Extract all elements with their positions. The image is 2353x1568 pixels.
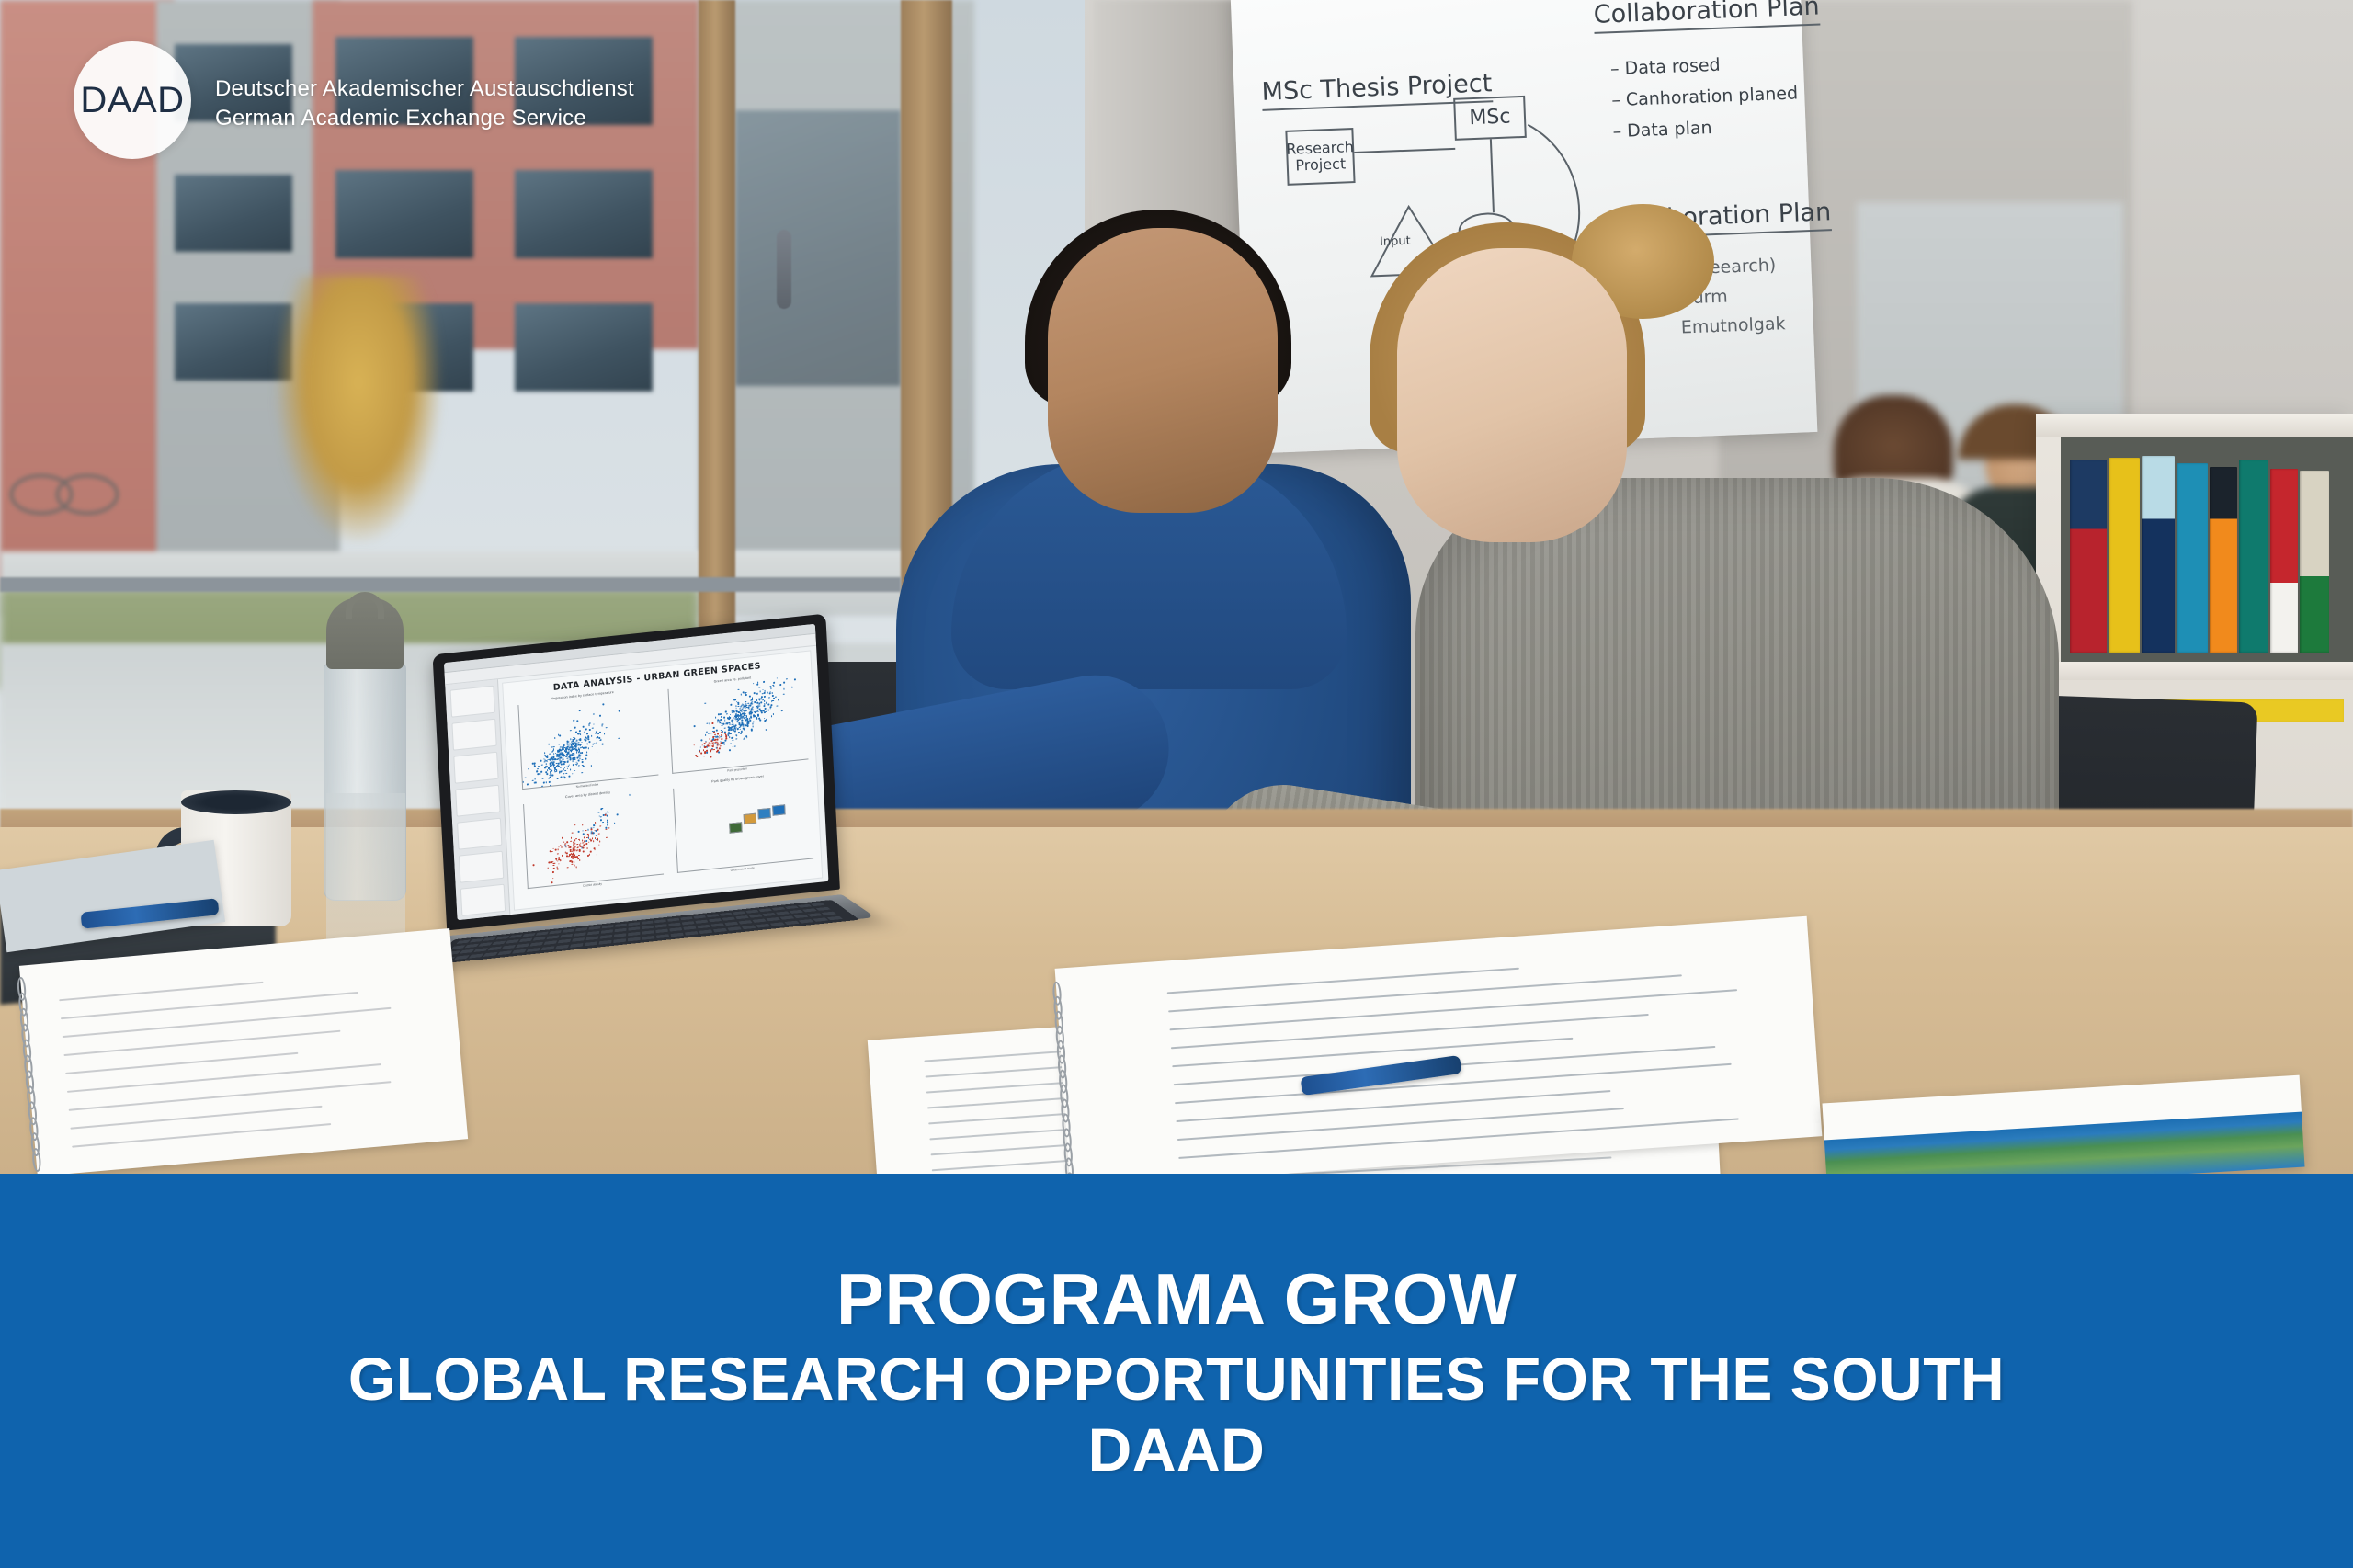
chart-grid: Vegetation index by surface temperature …	[504, 666, 822, 903]
keyboard-key[interactable]	[588, 926, 600, 930]
data-point	[582, 830, 584, 832]
keyboard-key[interactable]	[770, 922, 785, 926]
keyboard-key[interactable]	[615, 928, 627, 932]
keyboard-key[interactable]	[549, 930, 562, 934]
keyboard-key[interactable]	[628, 932, 640, 937]
data-point	[581, 752, 583, 754]
data-point	[566, 754, 568, 756]
data-point	[550, 763, 551, 765]
data-point	[560, 762, 562, 764]
data-point	[599, 732, 601, 733]
daad-logo-mark: DAAD	[74, 41, 191, 159]
whiteboard-panel1-item-3: Data plan	[1627, 118, 1712, 142]
data-point	[769, 693, 771, 695]
data-point	[715, 717, 717, 719]
data-point	[735, 738, 737, 740]
keyboard-key[interactable]	[585, 941, 597, 946]
bookshelf-shelf	[2036, 662, 2353, 680]
data-point	[701, 739, 703, 741]
data-point	[569, 776, 571, 778]
data-point	[572, 760, 574, 762]
keyboard-key[interactable]	[697, 925, 710, 928]
keyboard-key[interactable]	[694, 915, 706, 919]
keyboard-key[interactable]	[779, 915, 794, 919]
data-point	[717, 744, 719, 746]
keyboard-key[interactable]	[572, 937, 585, 942]
data-point	[587, 855, 589, 857]
data-point	[573, 739, 574, 741]
data-point	[752, 726, 754, 728]
keyboard-key[interactable]	[707, 914, 720, 917]
keyboard-key[interactable]	[680, 916, 692, 920]
data-point	[766, 710, 767, 712]
data-point	[586, 755, 588, 756]
keyboard-key[interactable]	[628, 926, 640, 930]
keyboard-key[interactable]	[642, 926, 654, 929]
keyboard-key[interactable]	[670, 933, 683, 937]
data-point	[764, 692, 766, 694]
daad-name-german: Deutscher Akademischer Austauschdienst	[215, 76, 634, 102]
data-point	[570, 850, 572, 852]
keyboard-key[interactable]	[483, 937, 496, 941]
data-point	[557, 869, 559, 870]
screen-sidebar	[445, 679, 510, 920]
data-point	[733, 729, 734, 731]
keyboard-key[interactable]	[473, 948, 488, 952]
data-point	[558, 766, 560, 767]
keyboard-key[interactable]	[756, 924, 770, 928]
keyboard-key[interactable]	[533, 937, 546, 941]
data-point	[582, 824, 584, 825]
data-point	[704, 746, 706, 748]
keyboard-key[interactable]	[727, 926, 741, 931]
data-point	[766, 702, 767, 704]
keyboard-key[interactable]	[738, 920, 752, 924]
keyboard-key[interactable]	[733, 911, 745, 915]
bottle-body	[324, 664, 406, 901]
keyboard-key[interactable]	[766, 917, 780, 921]
data-point	[574, 840, 576, 842]
keyboard-key[interactable]	[752, 919, 766, 923]
data-point	[719, 747, 721, 749]
bicycle	[55, 473, 119, 516]
data-point	[745, 717, 746, 719]
keyboard-key[interactable]	[454, 955, 470, 960]
mug-rim	[181, 790, 291, 814]
data-point	[746, 718, 748, 720]
data-point	[759, 709, 761, 710]
data-point	[748, 708, 750, 710]
data-point	[570, 738, 572, 740]
keyboard-key[interactable]	[772, 907, 786, 911]
keyboard-key[interactable]	[758, 908, 772, 912]
data-point	[552, 756, 554, 757]
data-point	[568, 766, 570, 767]
legend-swatch	[729, 822, 742, 833]
keyboard-key[interactable]	[492, 941, 506, 946]
data-point	[718, 714, 720, 716]
keyboard-key[interactable]	[785, 905, 799, 909]
keyboard-key[interactable]	[798, 904, 812, 908]
data-point	[579, 859, 581, 861]
data-point	[603, 814, 605, 816]
keyboard-key[interactable]	[735, 915, 749, 919]
keyboard-key[interactable]	[478, 942, 492, 947]
data-point	[570, 730, 572, 732]
data-point	[589, 729, 591, 731]
data-point	[593, 832, 595, 834]
keyboard-key[interactable]	[483, 952, 497, 957]
keyboard-key[interactable]	[784, 921, 799, 926]
keyboard-key[interactable]	[776, 911, 790, 915]
data-point	[734, 725, 736, 727]
data-point	[593, 827, 595, 829]
sidebar-card	[451, 719, 496, 751]
notebook-left	[19, 928, 468, 1174]
keyboard-key[interactable]	[519, 938, 533, 943]
data-point	[592, 727, 594, 729]
keyboard-key[interactable]	[575, 927, 587, 931]
data-point	[742, 720, 744, 722]
keyboard-key[interactable]	[655, 924, 667, 927]
keyboard-key[interactable]	[496, 936, 510, 939]
data-point	[551, 758, 552, 760]
data-point	[556, 770, 558, 772]
keyboard-key[interactable]	[699, 929, 712, 934]
keyboard-key[interactable]	[570, 943, 584, 948]
data-point	[794, 679, 796, 681]
data-point	[577, 733, 579, 734]
data-point	[706, 750, 708, 752]
female-face	[1397, 248, 1627, 542]
data-point	[730, 733, 732, 734]
data-point	[763, 681, 765, 683]
data-point	[740, 694, 742, 696]
keyboard-key[interactable]	[574, 932, 586, 936]
data-point	[733, 740, 734, 742]
keyboard-key[interactable]	[555, 945, 569, 949]
data-point	[606, 827, 608, 829]
whiteboard-arrow	[1490, 139, 1495, 212]
keyboard-key[interactable]	[512, 949, 527, 954]
keyboard-key[interactable]	[546, 935, 559, 938]
keyboard-key[interactable]	[613, 938, 626, 943]
data-point	[572, 832, 574, 834]
data-point	[548, 868, 550, 869]
keyboard-key[interactable]	[509, 935, 522, 938]
data-point	[560, 767, 562, 768]
keyboard-key[interactable]	[742, 926, 756, 930]
data-point	[601, 725, 603, 727]
keyboard-key[interactable]	[516, 943, 529, 948]
keyboard-key[interactable]	[487, 947, 502, 951]
data-point	[547, 754, 549, 756]
keyboard-key[interactable]	[502, 945, 516, 949]
data-point	[750, 720, 752, 722]
scatter-panel-1: Vegetation index by surface temperature …	[508, 686, 662, 799]
keyboard-key[interactable]	[469, 953, 483, 958]
keyboard-key[interactable]	[709, 918, 722, 922]
keyboard-key[interactable]	[522, 933, 535, 937]
banner-organisation: DAAD	[1088, 1415, 1266, 1485]
data-point	[704, 752, 706, 754]
data-point	[779, 684, 781, 686]
data-point	[606, 836, 608, 838]
keyboard-key[interactable]	[722, 917, 735, 921]
keyboard-key[interactable]	[642, 930, 654, 935]
hero-photo: MSc Thesis Project Research Project MSc …	[0, 0, 2353, 1174]
keyboard-key[interactable]	[451, 945, 466, 949]
keyboard-key[interactable]	[614, 933, 626, 937]
scatter-panel-4: Park quality by urban green cover Green …	[664, 769, 817, 882]
data-point	[544, 752, 546, 754]
data-point	[723, 742, 725, 744]
data-point	[586, 744, 588, 745]
data-point	[572, 858, 574, 859]
keyboard-key[interactable]	[745, 910, 758, 914]
scatter-panel-3: Cover area by district density District …	[514, 785, 667, 898]
keyboard-key[interactable]	[615, 924, 627, 927]
data-point	[552, 871, 554, 873]
data-point	[721, 716, 722, 718]
keyboard-key[interactable]	[558, 939, 571, 944]
keyboard-key[interactable]	[811, 903, 825, 906]
laptop-screen[interactable]: DATA ANALYSIS - URBAN GREEN SPACES Veget…	[444, 624, 828, 920]
keyboard-key[interactable]	[456, 940, 470, 944]
data-point	[545, 763, 547, 765]
data-point	[567, 767, 569, 769]
keyboard-key[interactable]	[654, 919, 666, 923]
keyboard-key[interactable]	[598, 940, 611, 945]
keyboard-key[interactable]	[602, 925, 614, 928]
data-point	[574, 850, 575, 852]
data-point	[700, 753, 702, 755]
keyboard-key[interactable]	[536, 932, 549, 936]
keyboard-key[interactable]	[822, 912, 837, 915]
data-point	[597, 737, 598, 739]
data-point	[576, 740, 578, 742]
keyboard-key[interactable]	[642, 936, 655, 940]
keyboard-key[interactable]	[628, 937, 641, 942]
data-point	[756, 684, 758, 686]
book-spine	[2070, 460, 2107, 653]
data-point	[771, 692, 773, 694]
data-point	[783, 682, 785, 684]
data-point	[588, 748, 590, 750]
data-point	[725, 736, 727, 738]
keyboard-key[interactable]	[762, 913, 776, 916]
keyboard-key[interactable]	[655, 929, 668, 934]
data-point	[747, 722, 749, 724]
data-point	[547, 773, 549, 775]
laptop[interactable]: DATA ANALYSIS - URBAN GREEN SPACES Veget…	[433, 614, 842, 959]
keyboard-key[interactable]	[497, 950, 512, 955]
text-line	[1168, 974, 1682, 1012]
data-point	[600, 808, 602, 810]
data-point	[564, 755, 566, 756]
data-point	[587, 834, 589, 835]
whiteboard-arrow	[1354, 148, 1455, 153]
data-point	[730, 743, 732, 744]
data-point	[567, 746, 569, 748]
data-point	[708, 745, 710, 747]
data-point	[558, 863, 560, 865]
keyboard-key[interactable]	[544, 940, 558, 945]
keyboard-key[interactable]	[587, 931, 599, 935]
data-point	[712, 744, 714, 746]
data-point	[761, 701, 763, 703]
text-line	[70, 1106, 323, 1130]
keyboard-key[interactable]	[470, 938, 483, 942]
keyboard-key[interactable]	[799, 919, 814, 923]
data-point	[585, 739, 586, 741]
sidebar-card	[457, 818, 502, 850]
keyboard-key[interactable]	[601, 929, 613, 933]
data-point	[725, 740, 727, 742]
keyboard-key[interactable]	[683, 926, 696, 929]
keyboard-key[interactable]	[802, 908, 817, 912]
data-point	[743, 713, 745, 715]
keyboard-key[interactable]	[585, 936, 598, 940]
data-point	[575, 838, 577, 840]
keyboard-key[interactable]	[827, 916, 843, 920]
data-point	[592, 744, 594, 745]
data-point	[738, 706, 740, 708]
book-spine	[2177, 463, 2208, 653]
data-point	[580, 738, 582, 740]
data-point	[596, 835, 597, 836]
data-point	[758, 705, 760, 707]
data-point	[527, 784, 529, 786]
keyboard-key[interactable]	[506, 939, 519, 944]
data-point	[559, 759, 561, 761]
keyboard-key[interactable]	[813, 917, 828, 921]
data-point	[729, 717, 731, 719]
data-point	[775, 696, 777, 698]
data-point	[715, 739, 717, 741]
data-point	[567, 761, 569, 763]
data-point	[598, 833, 600, 835]
data-point	[579, 710, 581, 711]
data-point	[543, 781, 545, 783]
data-point	[740, 733, 742, 734]
keyboard-key[interactable]	[793, 915, 808, 918]
sidebar-card	[455, 785, 500, 817]
keyboard-key[interactable]	[789, 910, 803, 914]
keyboard-key[interactable]	[629, 922, 640, 926]
keyboard-key[interactable]	[685, 931, 699, 936]
data-point	[567, 845, 569, 846]
data-point	[562, 855, 563, 857]
data-point	[694, 725, 696, 727]
keyboard-key[interactable]	[682, 921, 695, 925]
keyboard-key[interactable]	[527, 948, 540, 952]
keyboard-key[interactable]	[642, 921, 654, 925]
keyboard-key[interactable]	[713, 928, 727, 933]
data-point	[598, 737, 600, 739]
data-point	[751, 710, 753, 711]
keyboard-key[interactable]	[710, 923, 724, 926]
data-point	[588, 837, 590, 839]
data-point	[606, 727, 608, 729]
keyboard-key[interactable]	[540, 946, 554, 950]
data-point	[578, 838, 580, 840]
whiteboard-panel2-item-3: Emutnolgak	[1680, 313, 1785, 337]
data-point	[574, 727, 576, 729]
autumn-tree	[276, 276, 441, 542]
data-point	[544, 767, 546, 768]
data-point	[533, 864, 535, 866]
data-point	[575, 732, 577, 733]
data-point	[744, 706, 745, 708]
data-point	[600, 739, 602, 741]
data-point	[590, 765, 592, 767]
keyboard-key[interactable]	[816, 907, 831, 911]
keyboard-key[interactable]	[749, 915, 763, 918]
data-point	[552, 758, 554, 760]
keyboard-key[interactable]	[668, 923, 680, 926]
keyboard-key[interactable]	[563, 929, 575, 933]
data-point	[709, 738, 710, 740]
keyboard-key[interactable]	[460, 949, 474, 954]
keyboard-key[interactable]	[656, 934, 669, 938]
data-point	[714, 749, 716, 751]
campus-window	[335, 170, 473, 258]
data-point	[559, 771, 561, 773]
data-point	[773, 713, 775, 715]
data-point	[596, 742, 597, 744]
daad-name-english: German Academic Exchange Service	[215, 106, 634, 131]
data-point	[593, 713, 595, 715]
data-point	[722, 738, 723, 740]
keyboard-key[interactable]	[600, 935, 613, 939]
keyboard-key[interactable]	[669, 927, 682, 931]
data-point	[736, 714, 738, 716]
data-point	[554, 737, 556, 739]
data-point	[562, 749, 563, 751]
whiteboard-node-research-project: Research Project	[1285, 128, 1355, 186]
keyboard-key[interactable]	[720, 913, 733, 916]
keyboard-key[interactable]	[560, 934, 573, 937]
data-point	[580, 733, 582, 735]
data-point	[719, 737, 721, 739]
keyboard-key[interactable]	[807, 913, 822, 916]
sidebar-card	[453, 752, 498, 784]
data-point	[587, 736, 589, 738]
data-point	[721, 742, 722, 744]
data-point	[717, 733, 719, 734]
keyboard-key[interactable]	[724, 922, 738, 926]
keyboard-key[interactable]	[529, 942, 543, 947]
data-point	[598, 844, 600, 846]
keyboard-key[interactable]	[667, 918, 679, 922]
sidebar-card	[459, 851, 504, 883]
data-point	[706, 752, 708, 754]
keyboard-key[interactable]	[695, 920, 708, 924]
data-point	[716, 730, 718, 732]
campus-window	[175, 303, 292, 381]
data-point	[590, 839, 592, 841]
data-point	[712, 736, 714, 738]
data-point	[737, 688, 739, 690]
data-point	[751, 729, 753, 731]
data-point	[773, 682, 775, 684]
data-point	[751, 703, 753, 705]
book-spine	[2300, 471, 2329, 653]
text-line	[72, 1123, 331, 1148]
data-point	[541, 786, 543, 788]
keyboard-key[interactable]	[465, 944, 480, 949]
